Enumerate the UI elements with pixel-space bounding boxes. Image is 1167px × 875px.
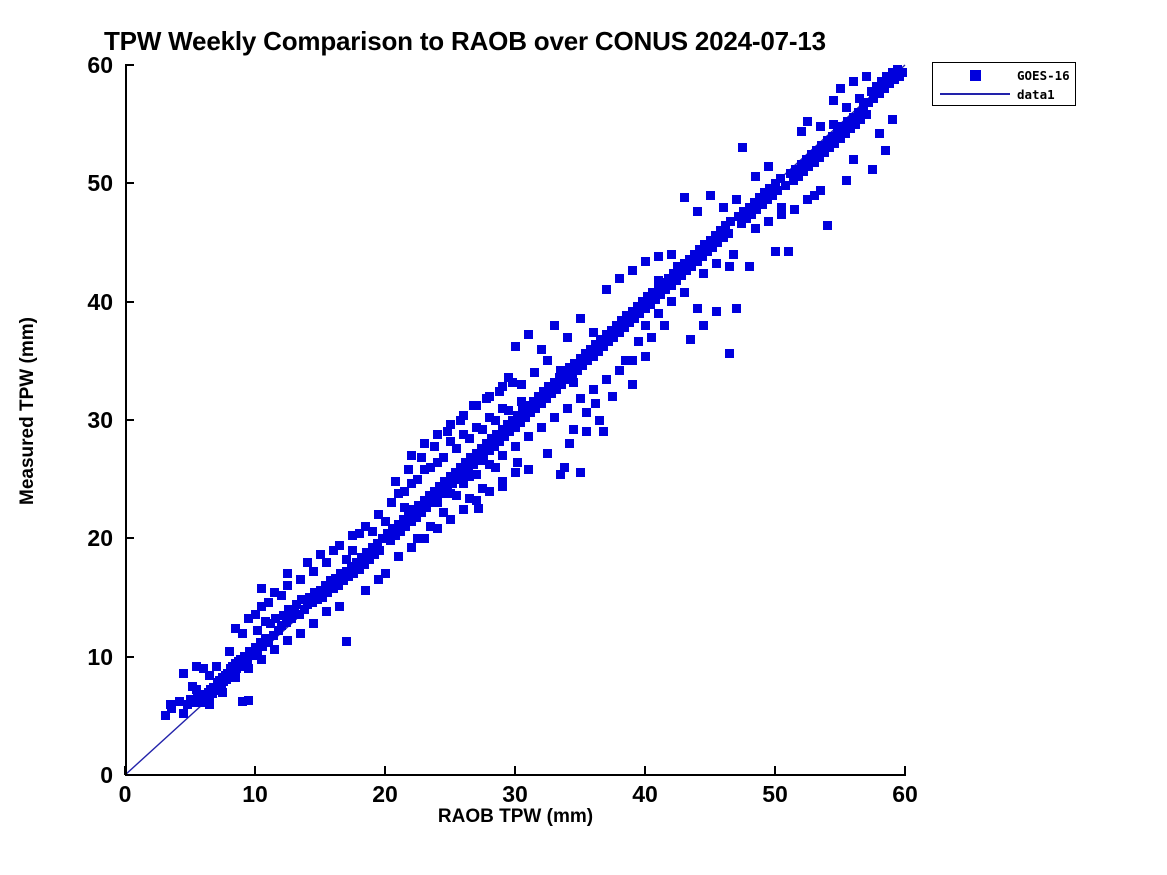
scatter-point [576,314,585,323]
scatter-point [225,647,234,656]
scatter-point [485,413,494,422]
scatter-point [342,555,351,564]
scatter-point [498,404,507,413]
scatter-point [283,581,292,590]
x-tick [254,766,256,775]
scatter-point [381,517,390,526]
y-tick-label: 50 [67,172,113,195]
scatter-point [680,288,689,297]
scatter-point [829,96,838,105]
scatter-point [257,655,266,664]
scatter-point [309,567,318,576]
scatter-point [524,432,533,441]
scatter-point [244,614,253,623]
y-tick [125,419,134,421]
scatter-point [667,250,676,259]
scatter-point [459,479,468,488]
scatter-point [784,247,793,256]
scatter-point [361,586,370,595]
scatter-point [732,304,741,313]
scatter-point [582,408,591,417]
legend-entry-goes16[interactable]: GOES-16 [933,65,1075,85]
scatter-point [524,330,533,339]
scatter-point [654,309,663,318]
y-tick-label: 20 [67,527,113,550]
scatter-point [498,482,507,491]
y-tick [125,182,134,184]
scatter-point [842,103,851,112]
scatter-point [498,451,507,460]
scatter-point [732,195,741,204]
x-tick-label: 10 [225,783,285,806]
scatter-point [641,352,650,361]
scatter-point [179,709,188,718]
scatter-point [530,368,539,377]
scatter-point [270,645,279,654]
y-tick-label: 40 [67,291,113,314]
scatter-point [433,458,442,467]
scatter-point [628,380,637,389]
scatter-point [253,626,262,635]
scatter-point [296,575,305,584]
scatter-point [426,522,435,531]
scatter-point [862,110,871,119]
plot-area [125,65,905,775]
scatter-point [582,427,591,436]
scatter-point [218,688,227,697]
x-tick-label: 0 [95,783,155,806]
scatter-point [404,465,413,474]
scatter-point [699,321,708,330]
scatter-point [335,602,344,611]
scatter-point [628,266,637,275]
scatter-point [764,217,773,226]
scatter-point [565,439,574,448]
scatter-point [576,394,585,403]
x-tick [384,766,386,775]
scatter-point [595,416,604,425]
legend-label-goes16: GOES-16 [1017,68,1070,83]
scatter-point [615,274,624,283]
scatter-point [482,394,491,403]
scatter-point [446,489,455,498]
scatter-point [849,77,858,86]
scatter-point [569,425,578,434]
scatter-point [433,498,442,507]
scatter-point [654,252,663,261]
scatter-point [342,637,351,646]
scatter-point [790,205,799,214]
y-axis-label: Measured TPW (mm) [17,181,39,641]
scatter-point [257,602,266,611]
scatter-point [244,664,253,673]
scatter-point [724,229,733,238]
scatter-point [647,333,656,342]
scatter-point [712,307,721,316]
line-marker-icon [933,93,1017,95]
y-tick [125,301,134,303]
scatter-point [420,439,429,448]
scatter-point [699,269,708,278]
scatter-point [524,465,533,474]
scatter-point [686,335,695,344]
x-tick-label: 50 [745,783,805,806]
scatter-point [667,297,676,306]
scatter-point [589,385,598,394]
scatter-point [465,494,474,503]
scatter-point [719,203,728,212]
scatter-point [641,257,650,266]
scatter-point [381,569,390,578]
scatter-point [387,498,396,507]
scatter-point [391,477,400,486]
scatter-point [413,534,422,543]
scatter-point [407,451,416,460]
scatter-point [375,546,384,555]
scatter-point [745,262,754,271]
x-tick-label: 20 [355,783,415,806]
scatter-point [881,146,890,155]
scatter-point [842,176,851,185]
scatter-point [602,375,611,384]
scatter-point [303,558,312,567]
scatter-point [868,165,877,174]
scatter-point [729,250,738,259]
x-tick-label: 60 [875,783,935,806]
scatter-point [712,259,721,268]
scatter-point [511,342,520,351]
legend-label-data1: data1 [1017,87,1055,102]
scatter-point [456,416,465,425]
scatter-point [706,191,715,200]
scatter-point [693,304,702,313]
x-tick [514,766,516,775]
scatter-point [569,378,578,387]
scatter-point [270,588,279,597]
scatter-point [875,129,884,138]
scatter-point [322,607,331,616]
scatter-point [797,127,806,136]
scatter-point [673,262,682,271]
y-tick [125,64,134,66]
scatter-point [400,503,409,512]
scatter-point [283,636,292,645]
scatter-point [517,380,526,389]
scatter-point [443,427,452,436]
scatter-point [680,193,689,202]
scatter-point [472,423,481,432]
y-tick-label: 60 [67,54,113,77]
scatter-point [898,68,907,77]
scatter-point [591,399,600,408]
scatter-point [816,122,825,131]
scatter-point [348,546,357,555]
scatter-point [634,337,643,346]
scatter-point [855,94,864,103]
scatter-point [836,84,845,93]
scatter-point [654,276,663,285]
scatter-point [394,552,403,561]
scatter-point [563,333,572,342]
scatter-point [771,247,780,256]
chart-figure: TPW Weekly Comparison to RAOB over CONUS… [0,0,1167,875]
y-tick [125,537,134,539]
scatter-point [407,543,416,552]
y-tick-label: 10 [67,646,113,669]
scatter-point [543,449,552,458]
scatter-point [660,321,669,330]
x-tick [124,766,126,775]
scatter-point [615,366,624,375]
scatter-point [407,479,416,488]
scatter-point [823,221,832,230]
scatter-point [231,673,240,682]
scatter-point [550,321,559,330]
scatter-point [296,629,305,638]
scatter-point [543,356,552,365]
square-marker-icon [933,70,1017,81]
scatter-point [244,696,253,705]
scatter-point [368,527,377,536]
scatter-point [777,210,786,219]
scatter-point [212,662,221,671]
scatter-point [205,700,214,709]
scatter-point [459,505,468,514]
scatter-point [179,669,188,678]
scatter-point [257,584,266,593]
scatter-point [485,460,494,469]
scatter-point [329,546,338,555]
scatter-point [563,404,572,413]
scatter-point [316,550,325,559]
page-title: TPW Weekly Comparison to RAOB over CONUS… [104,26,826,57]
scatter-point [166,700,175,709]
y-tick-label: 30 [67,409,113,432]
scatter-point [888,115,897,124]
scatter-point [495,387,504,396]
scatter-point [513,458,522,467]
scatter-point [537,423,546,432]
scatter-point [803,195,812,204]
scatter-point [355,529,364,538]
scatter-point [192,662,201,671]
scatter-point [641,321,650,330]
scatter-point [511,442,520,451]
scatter-point [472,470,481,479]
scatter-point [725,349,734,358]
scatter-point [511,468,520,477]
scatter-point [508,378,517,387]
scatter-point [550,413,559,422]
scatter-point [439,508,448,517]
scatter-point [738,143,747,152]
scatter-point [560,463,569,472]
scatter-point [849,155,858,164]
scatter-point [764,162,773,171]
scatter-point [420,465,429,474]
x-tick-label: 30 [485,783,545,806]
scatter-point [556,366,565,375]
scatter-point [751,224,760,233]
x-axis-label: RAOB TPW (mm) [125,806,906,828]
scatter-point [725,262,734,271]
scatter-point [283,569,292,578]
scatter-point [599,427,608,436]
scatter-point [192,685,201,694]
scatter-point [433,430,442,439]
legend-entry-data1[interactable]: data1 [933,84,1075,104]
scatter-point [862,72,871,81]
scatter-point [816,186,825,195]
scatter-point [751,172,760,181]
y-tick [125,656,134,658]
scatter-point [576,468,585,477]
x-tick [644,766,646,775]
scatter-point [474,504,483,513]
scatter-point [469,401,478,410]
scatter-point [537,345,546,354]
y-tick [125,774,134,776]
x-tick-label: 40 [615,783,675,806]
legend[interactable]: GOES-16 data1 [932,62,1076,106]
scatter-point [459,430,468,439]
scatter-point [829,120,838,129]
scatter-point [608,392,617,401]
scatter-point [803,117,812,126]
scatter-point [231,624,240,633]
scatter-point [602,285,611,294]
scatter-point [446,437,455,446]
scatter-point [417,453,426,462]
scatter-point [394,489,403,498]
scatter-point [478,484,487,493]
x-tick [904,766,906,775]
scatter-point [628,356,637,365]
scatter-point [430,442,439,451]
x-tick [774,766,776,775]
scatter-point [693,207,702,216]
scatter-point [309,619,318,628]
